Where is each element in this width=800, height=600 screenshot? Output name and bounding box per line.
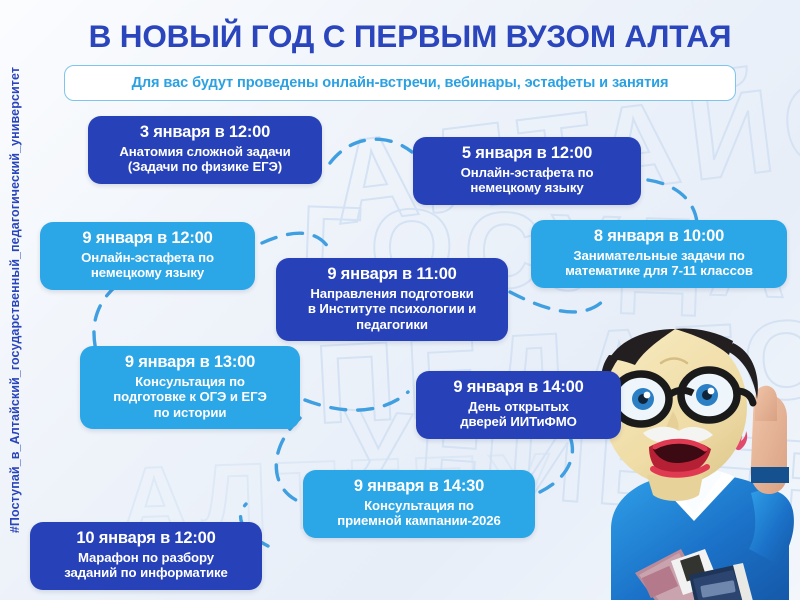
event-time: 5 января в 12:00: [425, 144, 629, 163]
event-desc-line: по истории: [92, 405, 288, 420]
mascot-books: [635, 549, 753, 600]
infographic-poster: АЛТАЙСК ГОСУДАРС ПЕДАГОГИЧ УНИВЕРСИ АЛТГ…: [0, 0, 800, 600]
event-card[interactable]: 9 января в 13:00 Консультация по подгото…: [80, 346, 300, 429]
event-desc-line: Занимательные задачи по: [543, 248, 775, 263]
professor-mascot: [583, 325, 800, 600]
mascot-body: [611, 386, 794, 600]
event-card[interactable]: 9 января в 12:00 Онлайн-эстафета по неме…: [40, 222, 255, 290]
event-card[interactable]: 10 января в 12:00 Марафон по разбору зад…: [30, 522, 262, 590]
page-title: В НОВЫЙ ГОД С ПЕРВЫМ ВУЗОМ АЛТАЯ: [40, 21, 780, 53]
vertical-hashtag: #Поступай_в_Алтайский_государственный_пе…: [2, 0, 28, 600]
glasses-icon: [599, 370, 753, 424]
event-card[interactable]: 9 января в 14:30 Консультация по приемно…: [303, 470, 535, 538]
event-card[interactable]: 5 января в 12:00 Онлайн-эстафета по неме…: [413, 137, 641, 205]
event-time: 9 января в 13:00: [92, 353, 288, 372]
event-desc-line: Онлайн-эстафета по: [425, 165, 629, 180]
event-desc-line: подготовке к ОГЭ и ЕГЭ: [92, 389, 288, 404]
event-desc-line: дверей ИИТиФМО: [428, 414, 609, 429]
hashtag-text: #Поступай_в_Алтайский_государственный_пе…: [8, 67, 22, 533]
event-desc-line: Консультация по: [92, 374, 288, 389]
event-desc-line: День открытых: [428, 399, 609, 414]
event-time: 9 января в 14:30: [315, 477, 523, 496]
event-card[interactable]: 3 января в 12:00 Анатомия сложной задачи…: [88, 116, 322, 184]
event-time: 9 января в 14:00: [428, 378, 609, 397]
event-desc-line: в Институте психологии и: [288, 301, 496, 316]
event-desc-line: немецкому языку: [425, 180, 629, 195]
connector-segment: [305, 392, 408, 410]
event-desc-line: Марафон по разбору: [42, 550, 250, 565]
event-card[interactable]: 8 января в 10:00 Занимательные задачи по…: [531, 220, 787, 288]
event-card[interactable]: 9 января в 11:00 Направления подготовки …: [276, 258, 508, 341]
event-time: 8 января в 10:00: [543, 227, 775, 246]
event-desc-line: математике для 7-11 классов: [543, 263, 775, 278]
mascot-emblem: [733, 425, 747, 450]
connector-segment: [510, 292, 604, 312]
event-time: 3 января в 12:00: [100, 123, 310, 142]
event-time: 9 января в 12:00: [52, 229, 243, 248]
event-desc-line: Анатомия сложной задачи: [100, 144, 310, 159]
event-time: 9 января в 11:00: [288, 265, 496, 284]
connector-segment: [276, 418, 300, 500]
subtitle-text: Для вас будут проведены онлайн-встречи, …: [132, 75, 669, 91]
event-desc-line: Консультация по: [315, 498, 523, 513]
event-desc-line: педагогики: [288, 317, 496, 332]
event-card[interactable]: 9 января в 14:00 День открытых дверей ИИ…: [416, 371, 621, 439]
connector-segment: [330, 139, 412, 163]
event-time: 10 января в 12:00: [42, 529, 250, 548]
event-desc-line: немецкому языку: [52, 265, 243, 280]
event-desc-line: заданий по информатике: [42, 565, 250, 580]
event-desc-line: (Задачи по физике ЕГЭ): [100, 159, 310, 174]
mascot-head: [599, 329, 758, 502]
event-desc-line: Направления подготовки: [288, 286, 496, 301]
event-desc-line: Онлайн-эстафета по: [52, 250, 243, 265]
connector-segment: [262, 233, 330, 250]
event-desc-line: приемной кампании-2026: [315, 513, 523, 528]
subtitle-banner: Для вас будут проведены онлайн-встречи, …: [64, 65, 736, 101]
